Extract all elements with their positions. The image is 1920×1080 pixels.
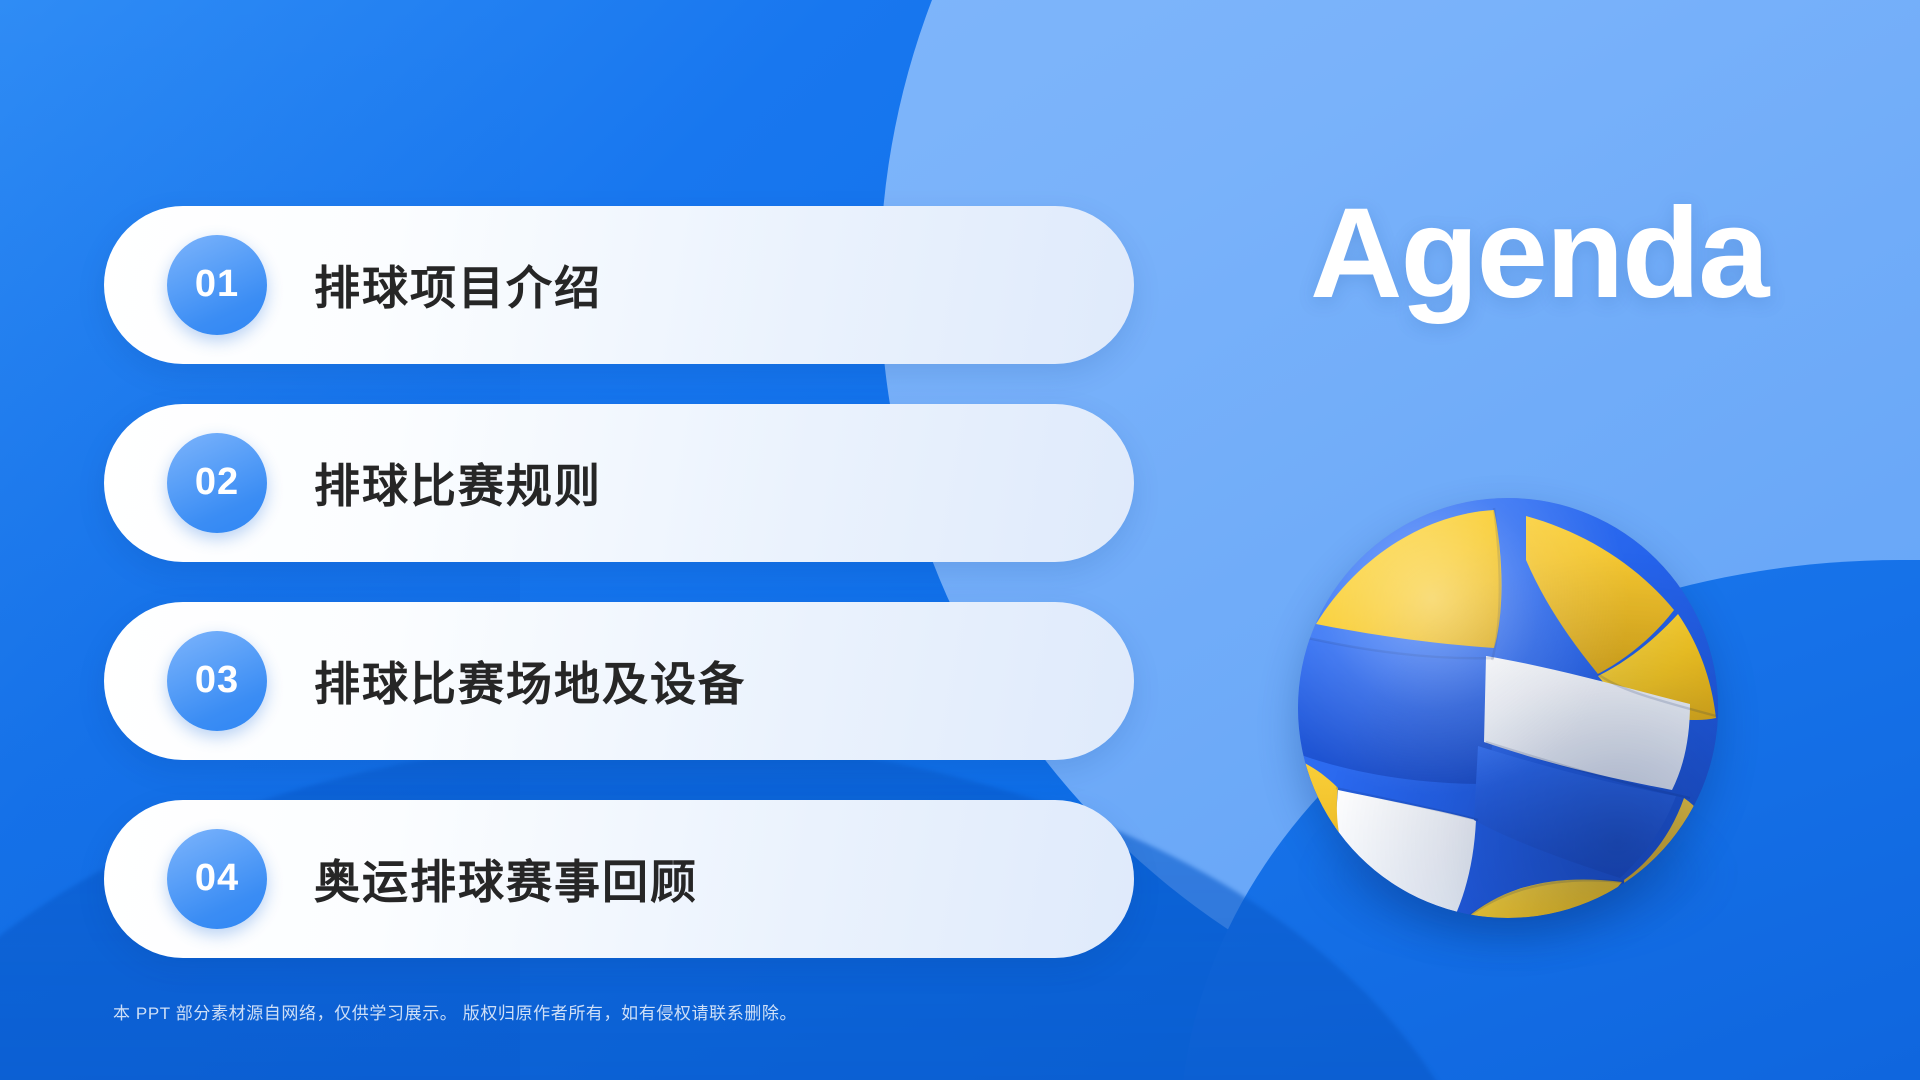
- agenda-item-04[interactable]: 04 奥运排球赛事回顾: [104, 800, 1134, 958]
- agenda-item-label: 排球比赛规则: [314, 404, 602, 562]
- agenda-number-text: 01: [195, 265, 239, 305]
- agenda-number-text: 04: [195, 859, 239, 899]
- agenda-number-text: 03: [195, 661, 239, 701]
- page-title: Agenda: [1310, 190, 1767, 318]
- agenda-slide: Agenda 01 排球项目介绍 02 排球比赛规则 03 排球比赛场地及设备: [0, 0, 1920, 1080]
- agenda-item-02[interactable]: 02 排球比赛规则: [104, 404, 1134, 562]
- agenda-number-badge: 03: [167, 631, 267, 731]
- volleyball-icon: [1298, 498, 1718, 918]
- agenda-item-label: 奥运排球赛事回顾: [314, 800, 698, 958]
- agenda-item-01[interactable]: 01 排球项目介绍: [104, 206, 1134, 364]
- agenda-number-badge: 01: [167, 235, 267, 335]
- footer-disclaimer: 本 PPT 部分素材源自网络，仅供学习展示。 版权归原作者所有，如有侵权请联系删…: [113, 999, 797, 1024]
- agenda-number-badge: 04: [167, 829, 267, 929]
- agenda-item-03[interactable]: 03 排球比赛场地及设备: [104, 602, 1134, 760]
- volleyball-illustration: [1298, 498, 1718, 918]
- agenda-list: 01 排球项目介绍 02 排球比赛规则 03 排球比赛场地及设备 04 奥运排球…: [104, 206, 1134, 998]
- agenda-item-label: 排球比赛场地及设备: [314, 602, 746, 760]
- agenda-item-label: 排球项目介绍: [314, 206, 602, 364]
- agenda-number-text: 02: [195, 463, 239, 503]
- agenda-number-badge: 02: [167, 433, 267, 533]
